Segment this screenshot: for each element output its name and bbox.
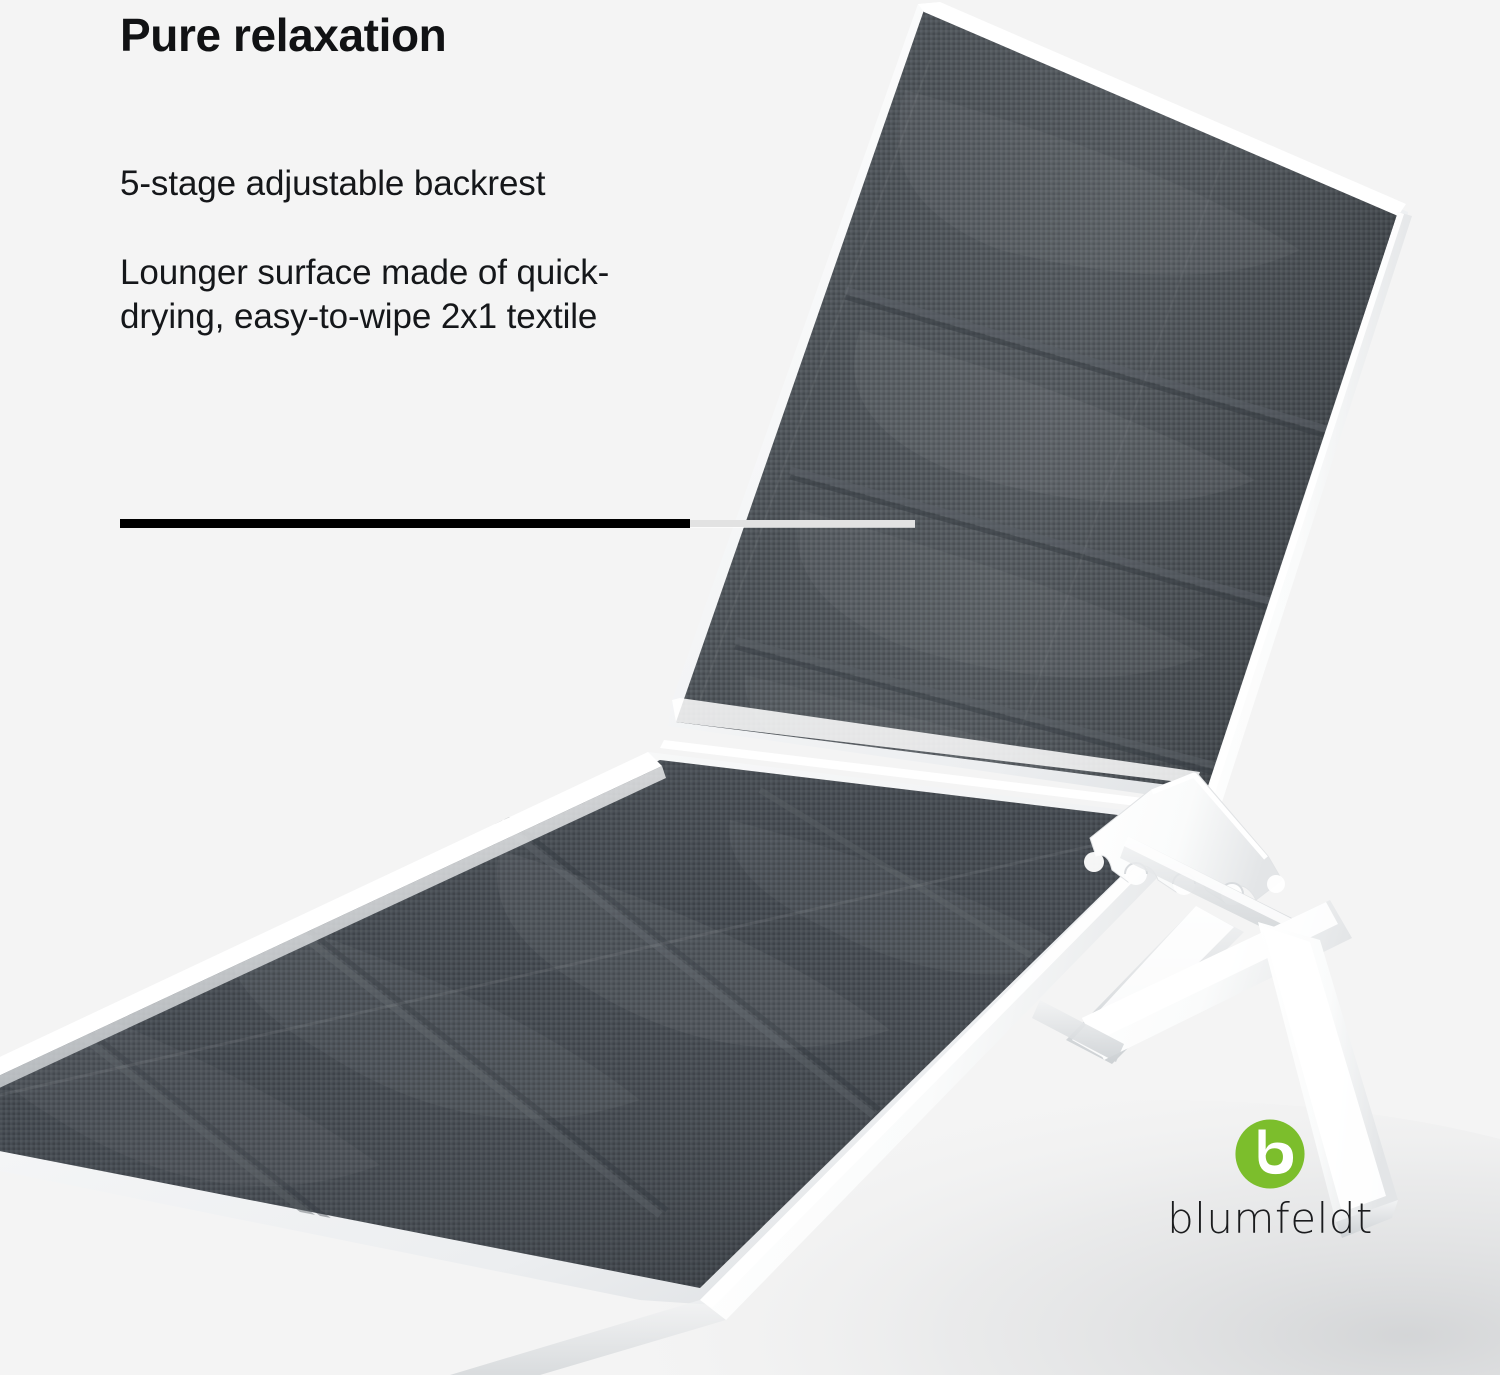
blumfeldt-b-logomark [1234,1118,1306,1190]
page-title: Pure relaxation [120,12,740,58]
product-banner: Pure relaxation 5-stage adjustable backr… [0,0,1500,1375]
brand-wordmark: blumfeldt [1145,1198,1395,1240]
feature-text-2: Lounger surface made of quick-drying, ea… [120,251,620,338]
divider-dark-segment [120,519,690,528]
divider-light-segment [690,520,915,527]
divider [120,519,915,528]
copy-block: Pure relaxation 5-stage adjustable backr… [120,0,740,338]
feature-text-1: 5-stage adjustable backrest [120,162,740,205]
brand-logo: blumfeldt [1145,1118,1395,1268]
